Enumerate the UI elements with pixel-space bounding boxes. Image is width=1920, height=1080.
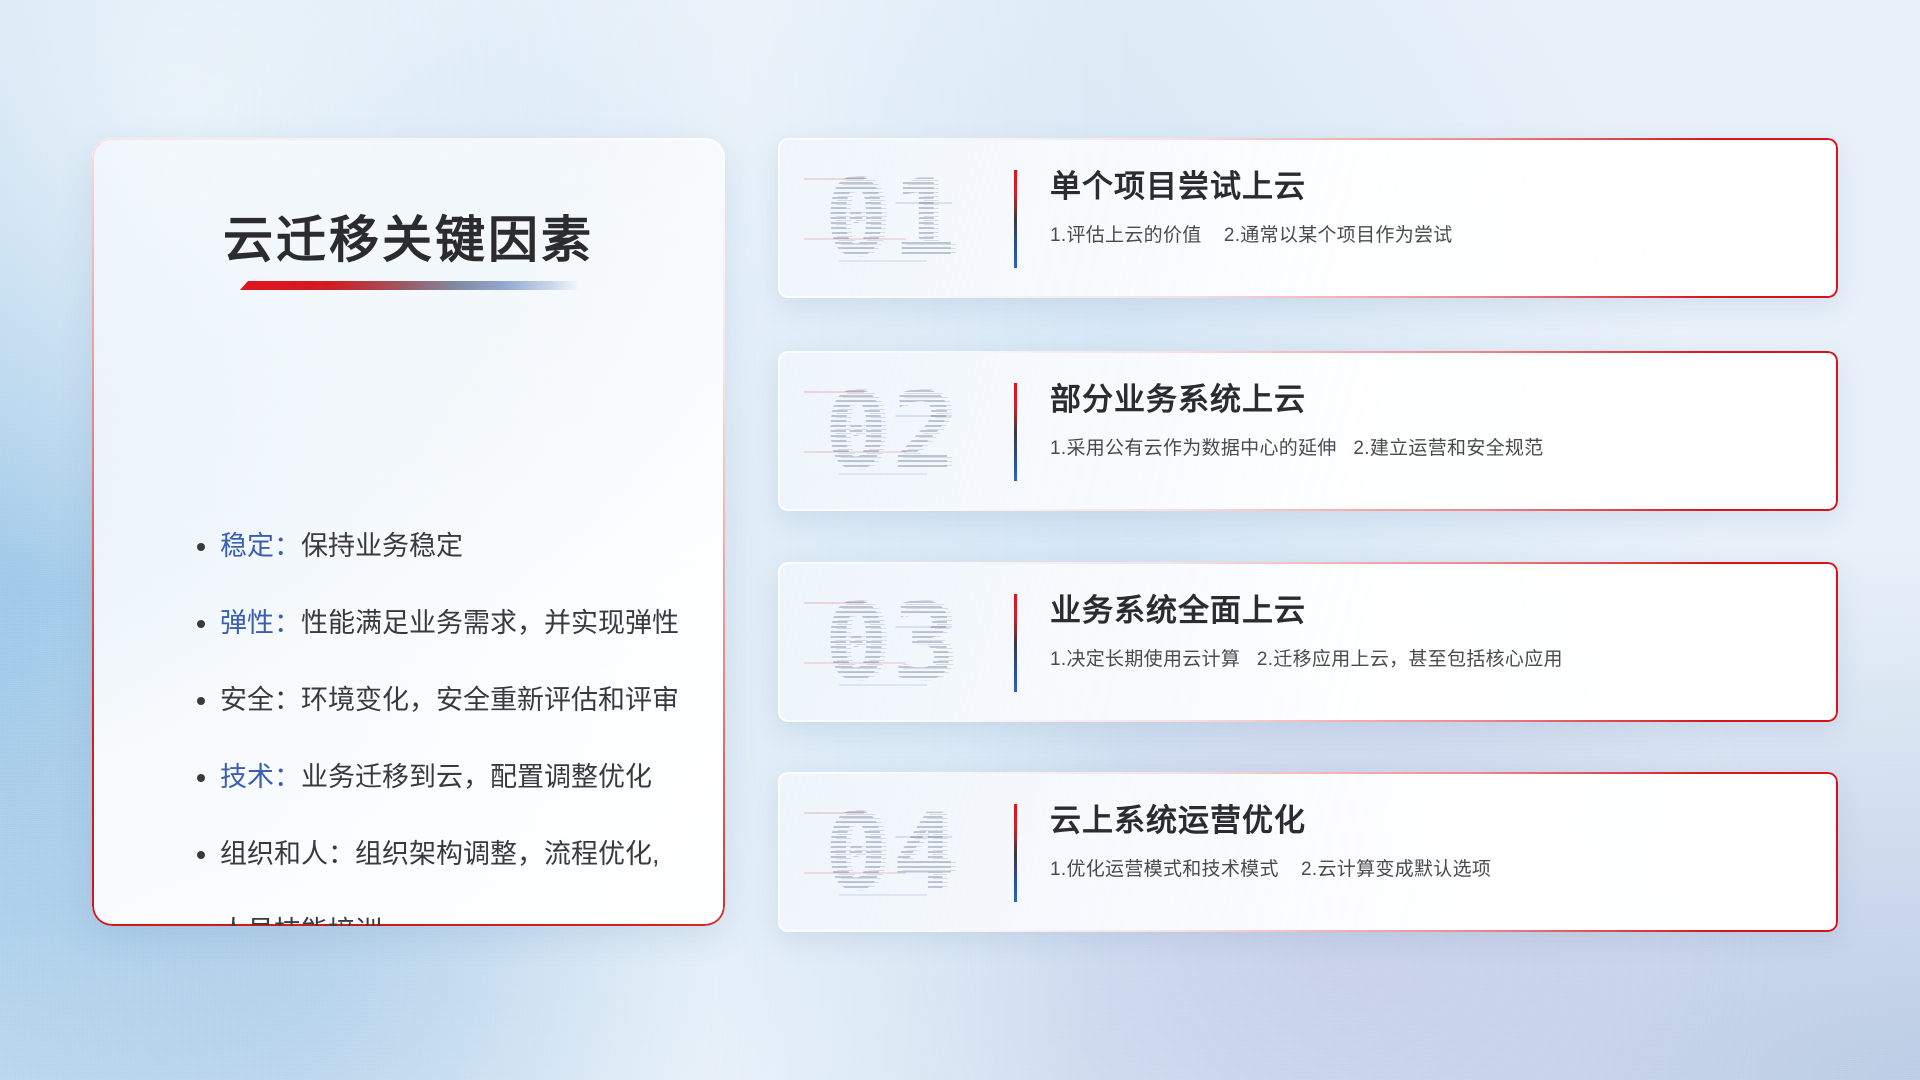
list-item-text: 环境变化，安全重新评估和评审 xyxy=(301,685,679,715)
list-item-text: 性能满足业务需求，并实现弹性 xyxy=(301,608,679,638)
step-title: 单个项目尝试上云 xyxy=(1050,164,1808,210)
list-item-text: 人员技能培训 xyxy=(220,916,382,926)
list-item: 技术：业务迁移到云，配置调整优化 xyxy=(220,739,685,816)
step-card-01[interactable]: 01 01 单个项目尝试上云 1.评估上云的价值 2.通常以某个项目作为尝试 xyxy=(778,138,1838,298)
step-card-04[interactable]: 04 04 云上系统运营优化 1.优化运营模式和技术模式 2.云计算变成默认选项 xyxy=(778,772,1838,932)
step-description: 1.评估上云的价值 2.通常以某个项目作为尝试 xyxy=(1050,222,1808,250)
step-divider-accent xyxy=(1014,383,1017,481)
list-item: 弹性：性能满足业务需求，并实现弹性 xyxy=(220,585,685,662)
step-number-02: 02 02 xyxy=(804,365,980,497)
step-title: 部分业务系统上云 xyxy=(1050,377,1808,423)
step-body: 部分业务系统上云 1.采用公有云作为数据中心的延伸 2.建立运营和安全规范 xyxy=(1050,377,1808,463)
step-number-scanline-tint xyxy=(804,576,980,708)
step-description: 1.优化运营模式和技术模式 2.云计算变成默认选项 xyxy=(1050,856,1808,884)
step-card-03[interactable]: 03 03 业务系统全面上云 1.决定长期使用云计算 2.迁移应用上云，甚至包括… xyxy=(778,562,1838,722)
step-divider-accent xyxy=(1014,594,1017,692)
step-number-03: 03 03 xyxy=(804,576,980,708)
list-item-key: 组织和人： xyxy=(220,839,355,869)
page-title: 云迁移关键因素 xyxy=(92,200,725,272)
list-item-key: 稳定： xyxy=(220,531,301,561)
list-item-key: 安全： xyxy=(220,685,301,715)
step-divider-accent xyxy=(1014,804,1017,902)
step-description: 1.决定长期使用云计算 2.迁移应用上云，甚至包括核心应用 xyxy=(1050,646,1808,674)
step-description: 1.采用公有云作为数据中心的延伸 2.建立运营和安全规范 xyxy=(1050,435,1808,463)
title-underline-accent xyxy=(240,281,580,290)
step-divider-accent xyxy=(1014,170,1017,268)
list-item-text: 业务迁移到云，配置调整优化 xyxy=(301,762,652,792)
list-item: 人员技能培训 xyxy=(220,893,685,926)
step-number-scanline-tint xyxy=(804,786,980,918)
step-title: 业务系统全面上云 xyxy=(1050,588,1808,634)
step-number-01: 01 01 xyxy=(804,152,980,284)
step-body: 单个项目尝试上云 1.评估上云的价值 2.通常以某个项目作为尝试 xyxy=(1050,164,1808,250)
key-factors-panel: 云迁移关键因素 稳定：保持业务稳定 弹性：性能满足业务需求，并实现弹性 安全：环… xyxy=(92,138,725,926)
step-body: 业务系统全面上云 1.决定长期使用云计算 2.迁移应用上云，甚至包括核心应用 xyxy=(1050,588,1808,674)
list-item-key: 弹性： xyxy=(220,608,301,638)
step-number-scanline-tint xyxy=(804,365,980,497)
key-factors-list: 稳定：保持业务稳定 弹性：性能满足业务需求，并实现弹性 安全：环境变化，安全重新… xyxy=(220,508,685,926)
step-title: 云上系统运营优化 xyxy=(1050,798,1808,844)
slide-stage: 云迁移关键因素 稳定：保持业务稳定 弹性：性能满足业务需求，并实现弹性 安全：环… xyxy=(0,0,1920,1080)
list-item-key: 技术： xyxy=(220,762,301,792)
step-card-02[interactable]: 02 02 部分业务系统上云 1.采用公有云作为数据中心的延伸 2.建立运营和安… xyxy=(778,351,1838,511)
list-item-text: 组织架构调整，流程优化, xyxy=(355,839,660,869)
step-number-04: 04 04 xyxy=(804,786,980,918)
list-item-text: 保持业务稳定 xyxy=(301,531,463,561)
list-item: 安全：环境变化，安全重新评估和评审 xyxy=(220,662,685,739)
step-body: 云上系统运营优化 1.优化运营模式和技术模式 2.云计算变成默认选项 xyxy=(1050,798,1808,884)
step-number-scanline-tint xyxy=(804,152,980,284)
list-item: 组织和人：组织架构调整，流程优化, xyxy=(220,816,685,893)
list-item: 稳定：保持业务稳定 xyxy=(220,508,685,585)
